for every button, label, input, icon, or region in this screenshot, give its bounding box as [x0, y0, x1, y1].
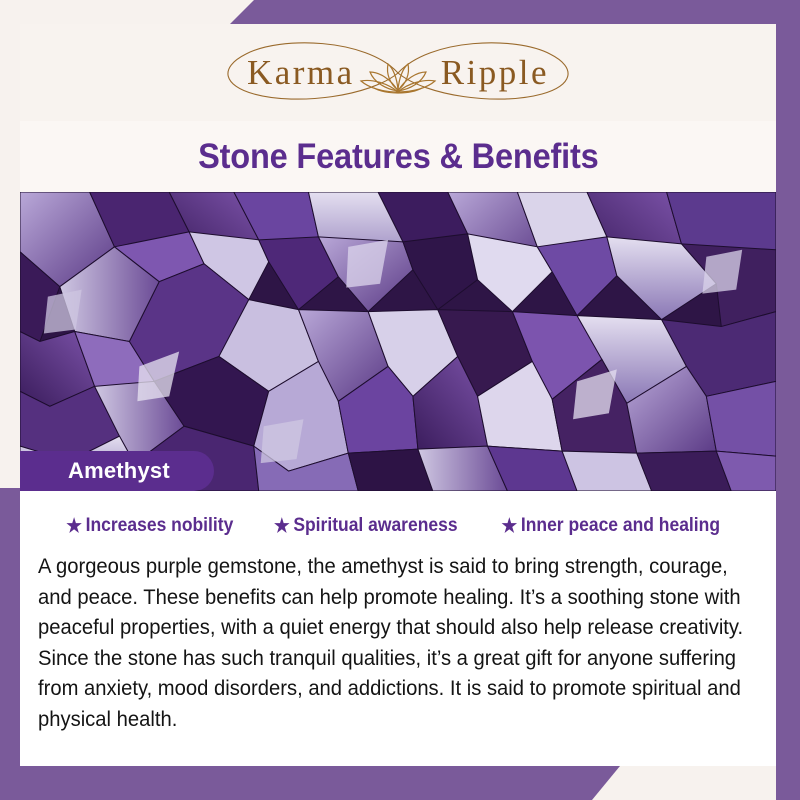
star-icon: ★	[274, 517, 290, 536]
benefit-item-1: ★ Increases nobility	[66, 515, 233, 537]
stone-description: A gorgeous purple gemstone, the amethyst…	[38, 551, 747, 734]
benefit-label-2: Spiritual awareness	[294, 515, 458, 537]
star-icon: ★	[66, 517, 82, 536]
amethyst-photo	[20, 192, 776, 491]
brand-logo: Karma Ripple	[188, 34, 608, 112]
title-strip: Stone Features & Benefits	[20, 121, 776, 192]
benefit-label-3: Inner peace and healing	[521, 515, 720, 537]
brand-name-left: Karma	[247, 53, 355, 93]
star-icon: ★	[501, 517, 517, 536]
brand-header: Karma Ripple	[20, 24, 776, 121]
amethyst-crystal-illustration	[20, 192, 776, 491]
stone-name: Amethyst	[68, 458, 170, 484]
brand-name: Karma Ripple	[247, 53, 549, 93]
frame-band-top	[230, 0, 800, 24]
page-title: Stone Features & Benefits	[198, 137, 599, 177]
brand-name-right: Ripple	[441, 53, 549, 93]
benefits-list: ★ Increases nobility ★ Spiritual awarene…	[38, 515, 750, 537]
stone-name-banner: Amethyst	[20, 451, 214, 491]
infographic-page: Karma Ripple Stone Features & Benefits	[0, 0, 800, 800]
benefit-item-2: ★ Spiritual awareness	[274, 515, 458, 537]
frame-band-bottom	[0, 766, 620, 800]
benefit-label-1: Increases nobility	[85, 515, 233, 537]
frame-band-right	[776, 0, 800, 800]
content-card: Karma Ripple Stone Features & Benefits	[20, 24, 776, 766]
stone-info-section: ★ Increases nobility ★ Spiritual awarene…	[20, 491, 776, 766]
benefit-item-3: ★ Inner peace and healing	[501, 515, 720, 537]
